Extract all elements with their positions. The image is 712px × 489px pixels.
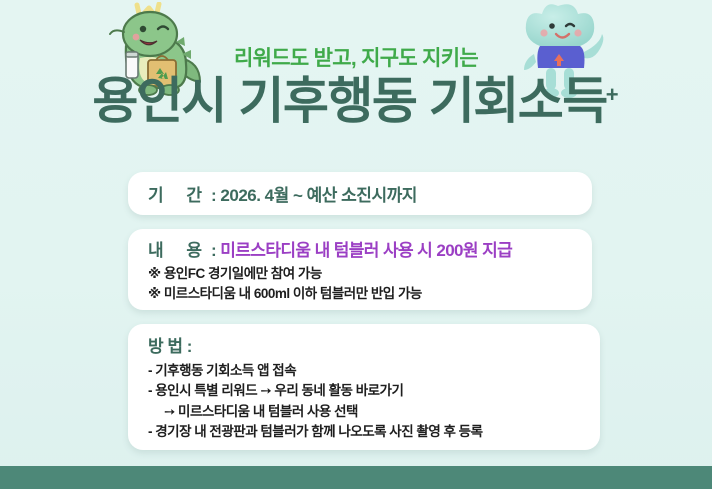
period-value: 2026. 4월 ~ 예산 소진시까지 — [220, 186, 416, 205]
content-value: 미르스타디움 내 텀블러 사용 시 200원 지급 — [220, 241, 512, 260]
method-step-1: - 기후행동 기회소득 앱 접속 — [148, 361, 600, 381]
content-note-2: ※ 미르스타디움 내 600ml 이하 텀블러만 반입 가능 — [148, 284, 592, 303]
card-period: 기 간: 2026. 4월 ~ 예산 소진시까지 — [128, 172, 592, 215]
period-separator: : — [211, 186, 216, 205]
content-row: 내 용: 미르스타디움 내 텀블러 사용 시 200원 지급 — [148, 236, 592, 261]
page-title: 용인시 기후행동 기회소득 — [92, 73, 606, 129]
poster-subtitle: 리워드도 받고, 지구도 지키는 — [0, 42, 712, 72]
period-row: 기 간: 2026. 4월 ~ 예산 소진시까지 — [148, 181, 592, 206]
card-method: 방 법 : - 기후행동 기회소득 앱 접속 - 용인시 특별 리워드 ➙ 우리… — [128, 324, 600, 450]
card-content: 내 용: 미르스타디움 내 텀블러 사용 시 200원 지급 ※ 용인FC 경기… — [128, 229, 592, 310]
period-label: 기 간 — [148, 186, 211, 205]
content-note-1: ※ 용인FC 경기일에만 참여 가능 — [148, 264, 592, 283]
method-label: 방 법 : — [148, 332, 600, 357]
method-step-3: ➙ 미르스타디움 내 텀블러 사용 선택 — [148, 402, 600, 422]
title-superscript-plus: + — [606, 82, 619, 107]
method-step-4: - 경기장 내 전광판과 텀블러가 함께 나오도록 사진 촬영 후 등록 — [148, 422, 600, 442]
poster-canvas: 리워드도 받고, 지구도 지키는 용인시 기후행동 기회소득+ 기 간: 202… — [0, 0, 712, 489]
poster-header: 리워드도 받고, 지구도 지키는 용인시 기후행동 기회소득+ — [0, 0, 712, 160]
footer-bar — [0, 466, 712, 489]
content-label: 내 용 — [148, 241, 211, 260]
poster-title-row: 용인시 기후행동 기회소득+ — [0, 76, 712, 126]
content-separator: : — [211, 241, 216, 260]
method-step-2: - 용인시 특별 리워드 ➙ 우리 동네 활동 바로가기 — [148, 381, 600, 401]
